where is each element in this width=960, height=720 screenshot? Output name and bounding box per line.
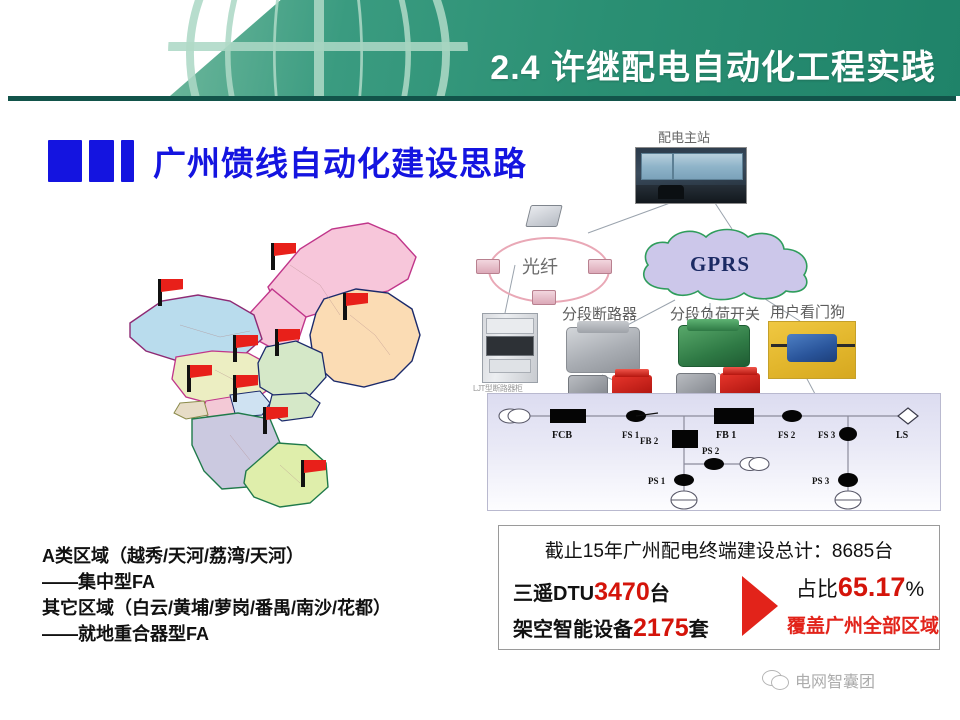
master-station-label: 配电主站 <box>658 127 710 146</box>
user-watchdog-icon <box>768 321 856 379</box>
stats-row-dtu-unit: 台 <box>650 583 670 605</box>
globe-graphic <box>168 0 468 96</box>
slide-header: 2.4 许继配电自动化工程实践 <box>0 0 960 96</box>
single-line-svg: FCB FS 1 FB 2 FB 1 FS 2 PS 2 PS 1 <box>488 394 940 510</box>
right-arrow-icon <box>742 576 778 636</box>
accent-block-3 <box>121 140 134 182</box>
master-station-photo <box>635 147 747 204</box>
sectionalizing-load-switch-icon <box>678 325 750 367</box>
device-label-watchdog: 用户看门狗 <box>770 301 845 322</box>
svg-text:PS 3: PS 3 <box>812 476 830 486</box>
stats-coverage: 覆盖广州全部区域 <box>787 611 933 638</box>
accent-block-1 <box>48 140 82 182</box>
fa-line-4: ——就地重合器型FA <box>42 621 482 647</box>
fiber-node-left-icon <box>476 259 500 274</box>
fa-line-2: ——集中型FA <box>42 569 482 595</box>
statistics-box: 截止15年广州配电终端建设总计：8685台 三遥DTU3470台 架空智能设备2… <box>498 525 940 650</box>
wechat-icon <box>762 670 788 690</box>
stats-row-dtu-value: 3470 <box>594 578 650 606</box>
stats-row-overhead-unit: 套 <box>689 619 709 641</box>
svg-text:PS 1: PS 1 <box>648 476 666 486</box>
page-title: 2.4 许继配电自动化工程实践 <box>490 40 936 89</box>
map-flag-marker <box>340 291 370 321</box>
svg-text:FS 1: FS 1 <box>622 430 640 440</box>
wechat-watermark: 电网智囊团 <box>762 668 875 692</box>
map-flag-marker <box>155 277 185 307</box>
fiber-node-bottom-icon <box>532 290 556 305</box>
map-flag-marker <box>298 458 328 488</box>
stats-ratio: 占比65.17% <box>787 572 933 603</box>
svg-text:FB 2: FB 2 <box>640 436 659 446</box>
switchgear-cabinet-icon <box>482 313 538 383</box>
stats-row-dtu: 三遥DTU3470台 <box>513 574 743 610</box>
svg-text:FCB: FCB <box>552 430 572 441</box>
stats-ratio-label: 占比 <box>796 578 838 601</box>
map-flag-marker <box>268 241 298 271</box>
stats-headline: 截止15年广州配电终端建设总计：8685台 <box>499 536 939 563</box>
map-flag-marker <box>230 373 260 403</box>
accent-block-2 <box>89 140 114 182</box>
slide: 2.4 许继配电自动化工程实践 广州馈线自动化建设思路 <box>0 0 960 720</box>
stats-row-overhead-value: 2175 <box>633 614 689 642</box>
svg-text:FS 2: FS 2 <box>778 430 796 440</box>
fiber-label: 光纤 <box>522 253 558 279</box>
sectionalizing-breaker-icon <box>566 327 640 373</box>
stats-row-dtu-label: 三遥DTU <box>513 583 594 605</box>
stats-headline-prefix: 截止15年广州配电终端建设总计： <box>545 541 832 562</box>
fa-strategy-text: A类区域（越秀/天河/荔湾/天河） ——集中型FA 其它区域（白云/黄埔/萝岗/… <box>42 543 482 647</box>
stats-headline-value: 8685台 <box>832 541 893 562</box>
header-divider <box>8 96 956 101</box>
svg-text:PS 2: PS 2 <box>702 446 720 456</box>
svg-text:LS: LS <box>896 430 909 441</box>
svg-text:FB 1: FB 1 <box>716 430 736 441</box>
stats-ratio-unit: % <box>905 578 924 601</box>
feeder-single-line-diagram: FCB FS 1 FB 2 FB 1 FS 2 PS 2 PS 1 <box>487 393 941 511</box>
fa-line-1: A类区域（越秀/天河/荔湾/天河） <box>42 543 482 569</box>
stats-rows: 三遥DTU3470台 架空智能设备2175套 <box>513 574 743 647</box>
guangzhou-district-map <box>120 205 430 515</box>
watermark-text: 电网智囊团 <box>795 668 875 692</box>
fiber-node-top-icon <box>525 205 562 227</box>
stats-row-overhead: 架空智能设备2175套 <box>513 610 743 646</box>
stats-ratio-group: 占比65.17% 覆盖广州全部区域 <box>787 572 933 638</box>
svg-text:FS 3: FS 3 <box>818 430 836 440</box>
stats-ratio-value: 65.17 <box>838 572 906 602</box>
map-flag-marker <box>230 333 260 363</box>
fiber-node-right-icon <box>588 259 612 274</box>
section-title: 广州馈线自动化建设思路 <box>48 137 527 185</box>
map-flag-marker <box>184 363 214 393</box>
gprs-label: GPRS <box>690 252 750 277</box>
stats-row-overhead-label: 架空智能设备 <box>513 619 633 641</box>
gprs-cloud: GPRS <box>630 225 820 303</box>
map-flag-marker <box>260 405 290 435</box>
fa-line-3: 其它区域（白云/黄埔/萝岗/番禺/南沙/花都） <box>42 595 482 621</box>
map-flag-marker <box>272 327 302 357</box>
network-topology-diagram: 配电主站 光纤 GPRS LJT型断路器柜 分段断路器 分段负荷开关 <box>470 125 948 395</box>
